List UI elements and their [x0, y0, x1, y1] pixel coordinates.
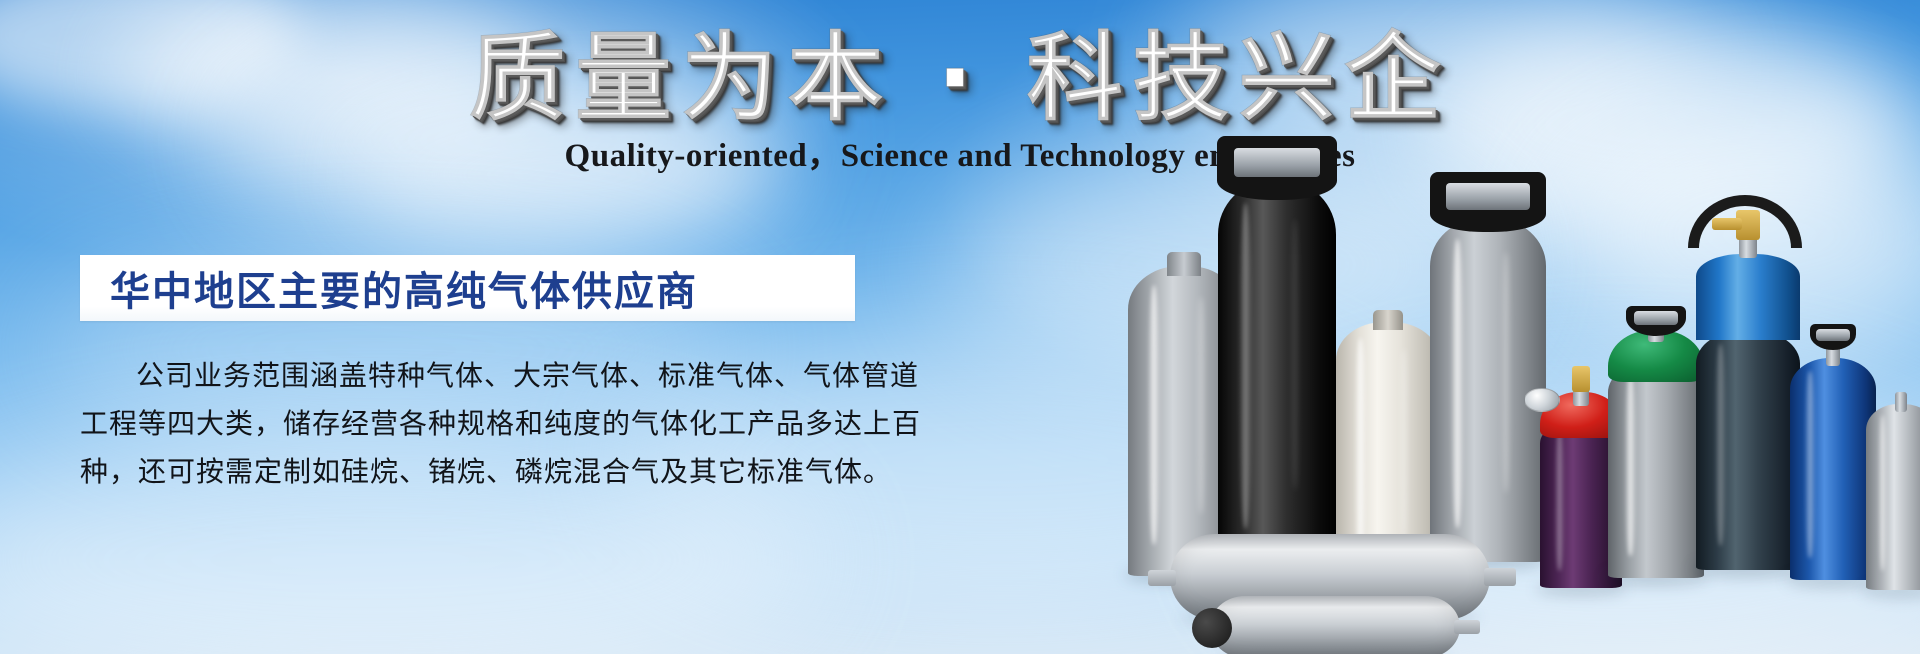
badge-label: 华中地区主要的高纯气体供应商: [80, 259, 698, 317]
lying-grey-cylinder-small: [1210, 596, 1460, 654]
body-line: 工程等四大类，储存经营各种规格和纯度的气体化工产品多达上百: [80, 400, 880, 448]
body-copy: 公司业务范围涵盖特种气体、大宗气体、标准气体、气体管道 工程等四大类，储存经营各…: [80, 352, 880, 496]
blue-cylinder: [1790, 320, 1876, 580]
grey-tall-cylinder: [1430, 172, 1546, 562]
green-top-cylinder: [1608, 310, 1704, 578]
body-line: 种，还可按需定制如硅烷、锗烷、磷烷混合气及其它标准气体。: [80, 448, 880, 496]
body-line: 公司业务范围涵盖特种气体、大宗气体、标准气体、气体管道: [80, 352, 880, 400]
valve-handwheel-icon: [1524, 388, 1560, 412]
status-badge: 华中地区主要的高纯气体供应商: [80, 255, 855, 321]
black-tall-cylinder: [1218, 136, 1336, 568]
cylinder-cap-guard: [1430, 172, 1546, 232]
cylinder-end-cap: [1192, 608, 1232, 648]
silver-cylinder: [1866, 382, 1920, 590]
promo-banner: 质量为本 · 科技兴企 Quality-oriented，Science and…: [0, 0, 1920, 654]
blue-valve-cylinder: [1696, 200, 1800, 570]
gas-cylinder-group: [1140, 150, 1920, 654]
valve-body: [1572, 366, 1590, 392]
cylinder-cap-guard: [1217, 136, 1337, 200]
page-title: 质量为本 · 科技兴企: [0, 0, 1920, 126]
